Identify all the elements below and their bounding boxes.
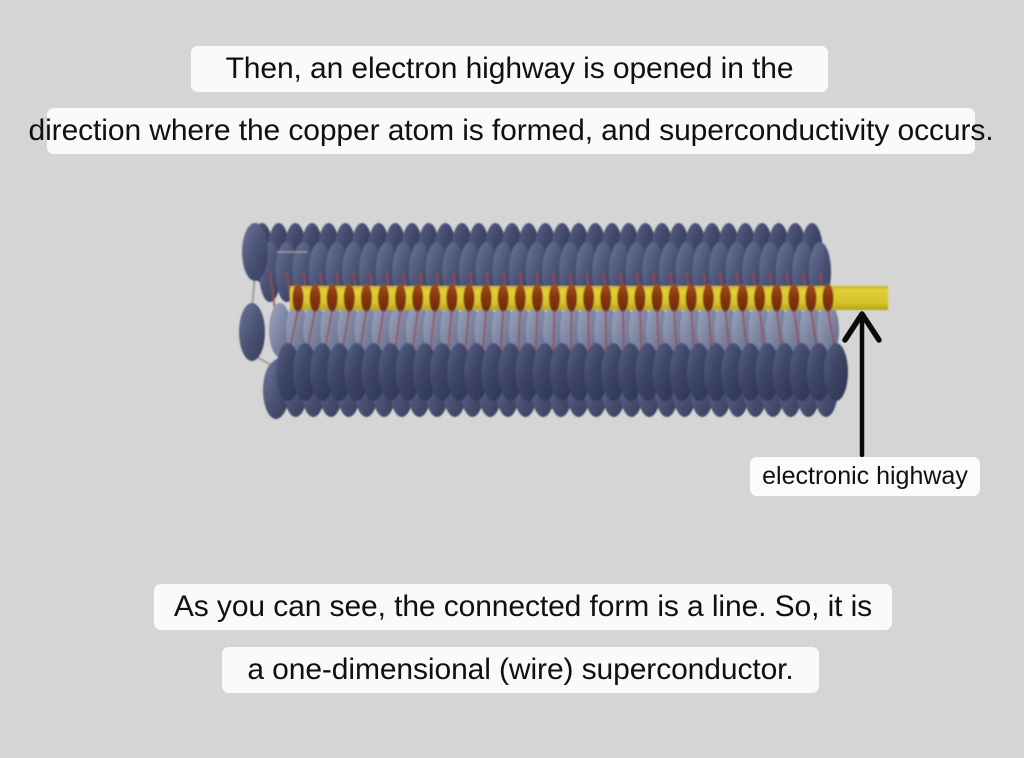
bond-line (803, 272, 811, 348)
atom-ellipse (792, 242, 814, 302)
atom-ellipse (634, 223, 656, 283)
bond-line (674, 310, 677, 358)
atom-ellipse (684, 223, 706, 283)
slide-canvas: Then, an electron highway is opened in t… (0, 0, 1024, 758)
bond-line (537, 272, 546, 348)
atom-ellipse (460, 359, 484, 417)
copper-atom (429, 284, 440, 312)
caption-top-line-1: Then, an electron highway is opened in t… (191, 46, 828, 92)
atom-ellipse (551, 223, 573, 283)
atom-ellipse (396, 343, 420, 401)
atom-ellipse (550, 343, 574, 401)
atom-ellipse (443, 359, 467, 417)
atom-ellipse (418, 223, 440, 283)
bond-line (370, 272, 380, 348)
copper-atom (549, 284, 560, 312)
atom-ellipse (526, 242, 548, 302)
bond-line (794, 310, 801, 358)
caption-bottom-line-2: a one-dimensional (wire) superconductor. (222, 647, 819, 693)
atom-ellipse (742, 242, 764, 302)
copper-atom (446, 284, 457, 312)
atom-ellipse (425, 359, 449, 417)
atom-ellipse (509, 303, 531, 357)
atom-ellipse (376, 242, 398, 302)
copper-atom (378, 284, 389, 312)
atom-ellipse (790, 343, 814, 401)
atom-ellipse (697, 303, 719, 357)
atom-ellipse (701, 223, 723, 283)
bond-line (412, 310, 418, 358)
atom-ellipse (401, 223, 423, 283)
atom-ellipse (731, 303, 753, 357)
bond-line (394, 310, 401, 358)
atom-ellipse (784, 223, 806, 283)
electron-highway-band (290, 284, 888, 312)
copper-atom (498, 284, 509, 312)
bond-line (453, 272, 462, 348)
atom-ellipse (749, 303, 771, 357)
atom-ellipse (484, 223, 506, 283)
bond-line (518, 310, 520, 358)
atom-ellipse (475, 303, 497, 357)
atom-ellipse (379, 343, 403, 401)
atom-ellipse (668, 223, 690, 283)
bond-line (482, 310, 486, 358)
bond-line (437, 272, 446, 348)
bond-line (447, 310, 452, 358)
bond-line (270, 272, 280, 348)
atom-ellipse (496, 359, 520, 417)
bond-line (376, 310, 383, 358)
atom-ellipse (817, 303, 839, 357)
copper-atom (583, 284, 594, 312)
atom-ellipse (761, 359, 785, 417)
atom-ellipse (612, 303, 634, 357)
bond-line (359, 310, 367, 358)
atom-ellipse (319, 359, 343, 417)
atom-ellipse (609, 242, 631, 302)
bond-line (760, 310, 766, 358)
atom-ellipse (704, 343, 728, 401)
copper-atom (823, 284, 834, 312)
atom-ellipse (709, 242, 731, 302)
bond-group (252, 252, 828, 390)
bond-line (535, 310, 537, 358)
atom-ellipse (809, 242, 831, 302)
atom-ellipse (266, 359, 290, 417)
atom-ellipse (584, 223, 606, 283)
bond-line (252, 354, 276, 368)
copper-atom (686, 284, 697, 312)
atom-ellipse (567, 359, 591, 417)
atom-ellipse (726, 359, 750, 417)
atom-ellipse (407, 359, 431, 417)
atom-ellipse (426, 242, 448, 302)
atom-ellipse (721, 343, 745, 401)
lower-row (276, 343, 848, 401)
bond-line (587, 272, 596, 348)
atom-ellipse (301, 359, 325, 417)
atom-ellipse (392, 242, 414, 302)
atom-ellipse (718, 223, 740, 283)
bond-line (553, 310, 554, 358)
atom-ellipse (651, 223, 673, 283)
atom-ellipse (464, 343, 488, 401)
atom-ellipse (513, 359, 537, 417)
atom-ellipse (251, 223, 273, 283)
atom-ellipse (362, 343, 386, 401)
atom-ellipse (738, 343, 762, 401)
bond-line (811, 310, 818, 358)
caption-top-line-2: direction where the copper atom is forme… (47, 108, 975, 154)
atom-ellipse (743, 359, 767, 417)
atom-ellipse (568, 223, 590, 283)
bond-line (353, 272, 363, 348)
copper-atom (788, 284, 799, 312)
bond-line (623, 310, 624, 358)
atom-ellipse (276, 343, 300, 401)
atom-ellipse (773, 343, 797, 401)
atom-ellipse (673, 359, 697, 417)
atom-ellipse (577, 303, 599, 357)
copper-atom (600, 284, 611, 312)
atom-ellipse (676, 242, 698, 302)
copper-atom (652, 284, 663, 312)
atom-ellipse (584, 343, 608, 401)
atom-ellipse (601, 343, 625, 401)
atom-ellipse (655, 359, 679, 417)
atom-ellipse (751, 223, 773, 283)
bond-line (743, 310, 748, 358)
atom-ellipse (354, 359, 378, 417)
atom-ellipse (434, 223, 456, 283)
atom-ellipse (783, 303, 805, 357)
atom-ellipse (559, 242, 581, 302)
atom-ellipse (602, 359, 626, 417)
bond-line (429, 310, 434, 358)
atom-ellipse (372, 359, 396, 417)
bond-line (288, 310, 298, 358)
atom-ellipse (276, 242, 298, 302)
atom-ellipse (409, 242, 431, 302)
atom-ellipse (734, 223, 756, 283)
bond-line (500, 310, 503, 358)
electronic-highway-label: electronic highway (750, 457, 980, 496)
atom-ellipse (492, 242, 514, 302)
atom-ellipse (642, 242, 664, 302)
atom-ellipse (269, 303, 291, 357)
atom-ellipse (326, 242, 348, 302)
bond-line (403, 272, 413, 348)
atom-ellipse (368, 223, 390, 283)
atom-ellipse (351, 223, 373, 283)
atom-ellipse (619, 343, 643, 401)
bond-line (703, 272, 711, 348)
copper-atom (805, 284, 816, 312)
atom-ellipse (807, 343, 831, 401)
bond-line (570, 272, 579, 348)
top-row (251, 223, 823, 283)
atom-ellipse (796, 359, 820, 417)
bond-line (252, 274, 255, 310)
atom-ellipse (534, 223, 556, 283)
bond-line (465, 310, 469, 358)
atom-ellipse (601, 223, 623, 283)
atom-ellipse (284, 359, 308, 417)
atom-ellipse (626, 242, 648, 302)
atom-ellipse (584, 359, 608, 417)
atom-ellipse (726, 242, 748, 302)
copper-atom (310, 284, 321, 312)
atom-ellipse (659, 242, 681, 302)
atom-ellipse (560, 303, 582, 357)
atom-ellipse (824, 343, 848, 401)
bond-line (287, 272, 297, 348)
bond-line (306, 310, 315, 358)
bond-line (387, 272, 397, 348)
atom-ellipse (800, 303, 822, 357)
atom-ellipse (478, 359, 502, 417)
bond-line (687, 272, 695, 348)
atom-ellipse (320, 303, 342, 357)
atom-ellipse (576, 242, 598, 302)
atom-ellipse (303, 303, 325, 357)
atom-ellipse (680, 303, 702, 357)
bond-line (323, 310, 332, 358)
atom-ellipse (239, 303, 265, 361)
atom-ellipse (338, 303, 360, 357)
atom-ellipse (549, 359, 573, 417)
atom-ellipse (413, 343, 437, 401)
atom-ellipse (776, 242, 798, 302)
atom-ellipse (286, 303, 308, 357)
atom-ellipse (268, 223, 290, 283)
atom-ellipse (653, 343, 677, 401)
copper-atom (463, 284, 474, 312)
bond-line (553, 272, 562, 348)
copper-atom (720, 284, 731, 312)
atom-ellipse (756, 343, 780, 401)
atom-ellipse (406, 303, 428, 357)
atom-ellipse (814, 359, 838, 417)
atom-ellipse (766, 303, 788, 357)
copper-atom (515, 284, 526, 312)
atom-ellipse (492, 303, 514, 357)
bond-line (770, 272, 778, 348)
atom-ellipse (646, 303, 668, 357)
atom-ellipse (259, 242, 281, 302)
atom-ellipse (501, 223, 523, 283)
atom-ellipse (423, 303, 445, 357)
copper-atom (669, 284, 680, 312)
bond-line (777, 310, 783, 358)
atom-ellipse (301, 223, 323, 283)
copper-atom (754, 284, 765, 312)
bond-line (337, 272, 347, 348)
atom-ellipse (457, 303, 479, 357)
bond-line (637, 272, 646, 348)
atom-ellipse (687, 343, 711, 401)
left-edge-atoms (239, 223, 289, 419)
atom-ellipse (309, 242, 331, 302)
bond-line (603, 272, 612, 348)
bond-line (670, 272, 679, 348)
bond-line (470, 272, 479, 348)
atom-ellipse (670, 343, 694, 401)
copper-atom (412, 284, 423, 312)
atom-ellipse (372, 303, 394, 357)
lattice-group (239, 223, 888, 419)
copper-atom (481, 284, 492, 312)
atom-ellipse (430, 343, 454, 401)
atom-ellipse (451, 223, 473, 283)
copper-atom (532, 284, 543, 312)
atom-ellipse (384, 223, 406, 283)
atom-ellipse (516, 343, 540, 401)
copper-atom (361, 284, 372, 312)
copper-atom (737, 284, 748, 312)
bond-line (303, 272, 313, 348)
atom-ellipse (327, 343, 351, 401)
bond-line (737, 272, 745, 348)
bottom-row (266, 359, 838, 417)
atom-ellipse (263, 361, 289, 419)
atom-ellipse (708, 359, 732, 417)
bond-line (503, 272, 512, 348)
bond-line (725, 310, 730, 358)
bond-line (320, 272, 330, 348)
atom-ellipse (801, 223, 823, 283)
atom-ellipse (531, 359, 555, 417)
bond-line (487, 272, 496, 348)
bond-group-lower (288, 310, 836, 358)
atom-ellipse (442, 242, 464, 302)
bond-line (520, 272, 529, 348)
bond-line (341, 310, 349, 358)
atom-ellipse (459, 242, 481, 302)
copper-atom (634, 284, 645, 312)
atom-ellipse (292, 242, 314, 302)
atom-ellipse (334, 223, 356, 283)
bond-line (787, 272, 795, 348)
bond-line (820, 272, 828, 348)
copper-atom (566, 284, 577, 312)
atom-ellipse (359, 242, 381, 302)
atom-ellipse (714, 303, 736, 357)
copper-atom (344, 284, 355, 312)
bond-line (708, 310, 712, 358)
atom-ellipse (663, 303, 685, 357)
atom-ellipse (779, 359, 803, 417)
atom-ellipse (440, 303, 462, 357)
caption-bottom-line-1: As you can see, the connected form is a … (154, 584, 892, 630)
bond-line (640, 310, 642, 358)
atom-ellipse (526, 303, 548, 357)
atom-ellipse (468, 223, 490, 283)
highway-rect (290, 286, 888, 310)
bond-line (653, 272, 662, 348)
atom-ellipse (542, 242, 564, 302)
atom-ellipse (768, 223, 790, 283)
atom-ellipse (567, 343, 591, 401)
atom-ellipse (594, 303, 616, 357)
atom-ellipse (636, 343, 660, 401)
atom-ellipse (618, 223, 640, 283)
up-arrow-icon (845, 314, 879, 455)
atom-ellipse (620, 359, 644, 417)
atom-ellipse (242, 223, 268, 281)
atom-ellipse (509, 242, 531, 302)
middle-row (269, 303, 839, 357)
bond-line (571, 310, 572, 358)
bond-line (620, 272, 629, 348)
copper-atom (771, 284, 782, 312)
atom-ellipse (337, 359, 361, 417)
atom-ellipse (293, 343, 317, 401)
atom-ellipse (390, 359, 414, 417)
bond-line (753, 272, 761, 348)
atom-ellipse (533, 343, 557, 401)
bond-line (720, 272, 728, 348)
atom-ellipse (692, 242, 714, 302)
bond-line (420, 272, 429, 348)
copper-atom (617, 284, 628, 312)
bond-line (828, 310, 836, 358)
atom-ellipse (389, 303, 411, 357)
atom-ellipse (518, 223, 540, 283)
atom-ellipse (637, 359, 661, 417)
atom-ellipse (592, 242, 614, 302)
atom-ellipse (318, 223, 340, 283)
atom-ellipse (447, 343, 471, 401)
bond-line (691, 310, 694, 358)
atom-ellipse (759, 242, 781, 302)
atom-ellipse (482, 343, 506, 401)
copper-atom (703, 284, 714, 312)
atom-ellipse (342, 242, 364, 302)
atom-ellipse (284, 223, 306, 283)
atom-ellipse (476, 242, 498, 302)
copper-atom (293, 284, 304, 312)
atom-ellipse (355, 303, 377, 357)
atom-ellipse (310, 343, 334, 401)
atom-ellipse (499, 343, 523, 401)
atom-ellipse (690, 359, 714, 417)
atom-ellipse (629, 303, 651, 357)
copper-atom (395, 284, 406, 312)
upper-mid-row (259, 242, 831, 302)
atom-ellipse (345, 343, 369, 401)
bond-line (657, 310, 659, 358)
copper-atom (327, 284, 338, 312)
atom-ellipse (543, 303, 565, 357)
